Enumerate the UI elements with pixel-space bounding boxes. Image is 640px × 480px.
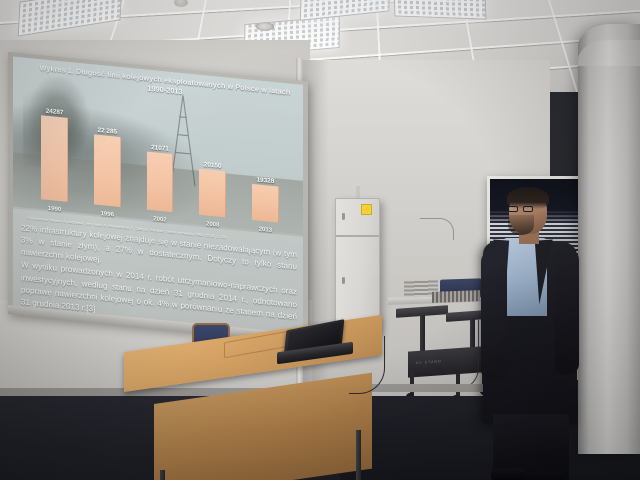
lecture-room-photo: Wykres 1. Długość linii kolejowych ekspl… <box>0 0 640 480</box>
bar-rect <box>199 169 226 218</box>
presenter <box>463 190 585 480</box>
trolley-stem <box>420 315 425 351</box>
bar-rect <box>252 184 279 223</box>
laptop[interactable] <box>277 325 355 363</box>
desk-front-panel <box>154 373 372 480</box>
bar-category-label: 2013 <box>259 227 272 234</box>
desk-leg <box>160 470 165 480</box>
bar-column: 19328 2013 <box>244 115 287 223</box>
bar-value-label: 24287 <box>46 107 64 116</box>
cabinet-door-split <box>336 235 379 237</box>
projection-screen: Wykres 1. Długość linii kolejowych ekspl… <box>8 52 308 343</box>
desk-leg <box>356 430 361 480</box>
cabinet-handle[interactable] <box>342 277 345 284</box>
bar-value-label: 19328 <box>257 176 275 185</box>
right-arm <box>555 248 579 374</box>
bar-category-label: 2002 <box>153 216 166 223</box>
bar-value-label: 20150 <box>204 161 222 170</box>
bar-category-label: 2008 <box>206 221 219 228</box>
projected-slide: Wykres 1. Długość linii kolejowych ekspl… <box>13 56 303 333</box>
bar-value-label: 22 285 <box>98 126 118 135</box>
ceiling-light-panel <box>394 0 487 20</box>
shoe <box>525 472 565 480</box>
trolley-label: AV STAND <box>416 359 442 365</box>
bar-column: 24287 1990 <box>33 94 76 202</box>
structural-column <box>578 24 640 454</box>
bar-value-label: 21071 <box>151 144 169 153</box>
bar-category-label: 1990 <box>48 206 61 213</box>
bar-chart: 24287 1990 22 285 1996 21071 20 <box>25 94 295 240</box>
presenter-desk <box>124 352 382 480</box>
bar-category-label: 1996 <box>101 211 114 218</box>
bar-rect <box>147 152 174 213</box>
electrical-cabinet: ⚡ <box>335 198 380 331</box>
bar-column: 22 285 1996 <box>86 100 129 208</box>
screen-surface: Wykres 1. Długość linii kolejowych ekspl… <box>13 56 303 333</box>
bar-rect <box>94 134 121 207</box>
ceiling-speaker <box>256 22 274 31</box>
beard <box>508 215 534 235</box>
bar-column: 20150 2008 <box>191 110 234 218</box>
wall-wire <box>420 218 454 240</box>
cabinet-handle[interactable] <box>342 213 345 220</box>
bar-column: 21071 2002 <box>138 105 181 213</box>
eyeglasses-icon <box>508 206 534 212</box>
left-arm <box>481 250 507 380</box>
bar-rect <box>41 115 68 202</box>
column-cap <box>578 40 640 66</box>
electrical-warning-icon: ⚡ <box>361 204 372 215</box>
shoe <box>491 468 529 480</box>
